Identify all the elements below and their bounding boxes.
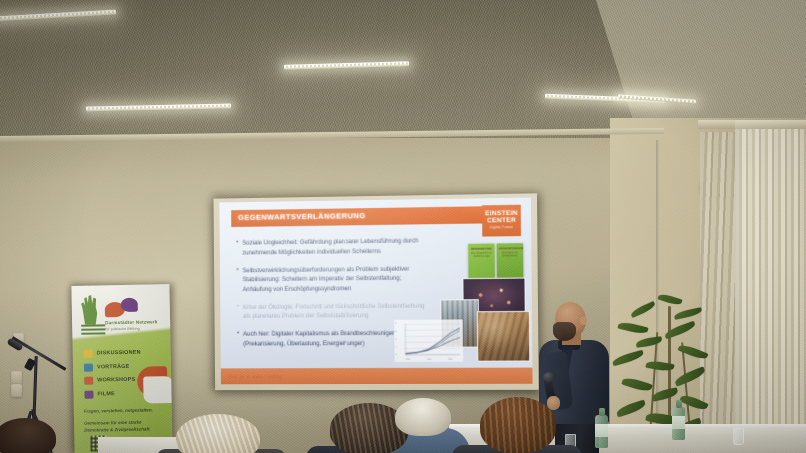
water-bottle-2 [672, 407, 685, 440]
wall-outlet-3 [11, 384, 22, 397]
rollup-banner: Darmstädter Netzwerk für politische Bild… [71, 284, 172, 453]
audience-head-brown-hair [480, 397, 556, 453]
bullet-text: Krise der Ökologie: Fortschritt und rück… [243, 301, 425, 321]
banner-blob-light [143, 376, 172, 404]
bullet-marker: • [236, 239, 238, 258]
banner-item-label: DISKUSSIONEN [97, 350, 141, 357]
banner-list-item: DISKUSSIONEN [84, 349, 141, 358]
audience-head-grey-denim [395, 398, 451, 436]
book-cover-left: DEMOKRATIE Eine Streitschrift zur politi… [468, 243, 495, 280]
chart-series-lines [394, 319, 463, 362]
banner-list-item: FILME [84, 389, 141, 398]
bullet-text: Soziale Ungleichheit: Gefährdung planbar… [242, 236, 418, 257]
book-title: DEMOKRATIE [470, 247, 492, 251]
banner-tagline-2: Gemeinsam für eine starke Demokratie & Z… [84, 418, 151, 433]
chart-line-2 [405, 331, 460, 354]
einstein-center-logo: EINSTEIN CENTER Digital Future [482, 205, 521, 237]
slide-bullet: • Selbstverwirklichungsüberforderungen a… [237, 264, 448, 294]
banner-activity-list: DISKUSSIONEN VORTRÄGE WORKSHOPS FILME [84, 349, 142, 404]
banner-item-label: FILME [97, 391, 115, 397]
logo-bars-icon [81, 324, 105, 336]
presenter-beard [553, 322, 576, 341]
banner-list-item: VORTRÄGE [84, 362, 141, 371]
book-title: UNVERFÜGBARKEIT [499, 246, 521, 250]
projected-slide: GEGENWARTSVERLÄNGERUNG EINSTEIN CENTER D… [219, 197, 532, 384]
lecture-room-photo: GEGENWARTSVERLÄNGERUNG EINSTEIN CENTER D… [0, 0, 806, 453]
tree-hand-icon [81, 294, 104, 324]
speech-bubble-icon-purple [121, 298, 138, 312]
bullet-marker: • [237, 330, 239, 349]
banner-list-item: WORKSHOPS [84, 376, 141, 385]
banner-logo: Darmstädter Netzwerk für politische Bild… [79, 290, 164, 336]
chip-icon-purple [84, 390, 93, 398]
bullet-marker: • [237, 303, 239, 322]
banner-item-label: VORTRÄGE [97, 363, 130, 370]
logo-line-3: Digital Future [490, 226, 513, 230]
presenter-ear [580, 316, 587, 325]
chart-line-1 [405, 328, 460, 354]
book-cover-right: UNVERFÜGBARKEIT Resonanz und Weltbeziehu… [497, 243, 524, 280]
assembly-line-workers-photo [477, 311, 530, 362]
slide-footer-note: Prof. Dr. H. Rosa / Vortrag [229, 374, 282, 379]
banner-tagline-1: Fragen, verstehen, mitgestalten. [84, 407, 153, 413]
chart-line-3 [405, 338, 460, 354]
bullet-marker: • [237, 266, 239, 294]
banner-organisation-sub: für politische Bildung [105, 326, 140, 331]
mini-line-chart: 8 6 4 2 0 1900 1950 2000 [394, 319, 463, 362]
vertical-blinds [735, 120, 806, 453]
banner-organisation: Darmstädter Netzwerk [105, 319, 158, 325]
book-subtitle: Resonanz und Weltbeziehung [499, 252, 522, 259]
slide-bullet: • Soziale Ungleichheit: Gefährdung planb… [236, 236, 447, 258]
wall-outlet-2 [11, 371, 22, 384]
blinds-rail [698, 120, 806, 129]
bullet-text: Selbstverwirklichungsüberforderungen als… [242, 264, 409, 294]
book-subtitle: Eine Streitschrift zur politischen Lage [470, 253, 492, 260]
banner-item-label: WORKSHOPS [97, 377, 135, 384]
water-bottle-1 [595, 415, 608, 448]
chip-icon-yellow [84, 350, 93, 358]
slide-bullet-dimmed: • Krise der Ökologie: Fortschritt und rü… [237, 301, 448, 321]
bullet-text: Auch hier: Digitaler Kapitalismus als Br… [243, 329, 395, 349]
chip-icon-blue [84, 363, 93, 371]
slide-title: GEGENWARTSVERLÄNGERUNG [238, 211, 366, 222]
chip-icon-orange [84, 377, 93, 385]
drinking-glass-1 [733, 428, 744, 445]
logo-line-2: CENTER [487, 218, 516, 225]
